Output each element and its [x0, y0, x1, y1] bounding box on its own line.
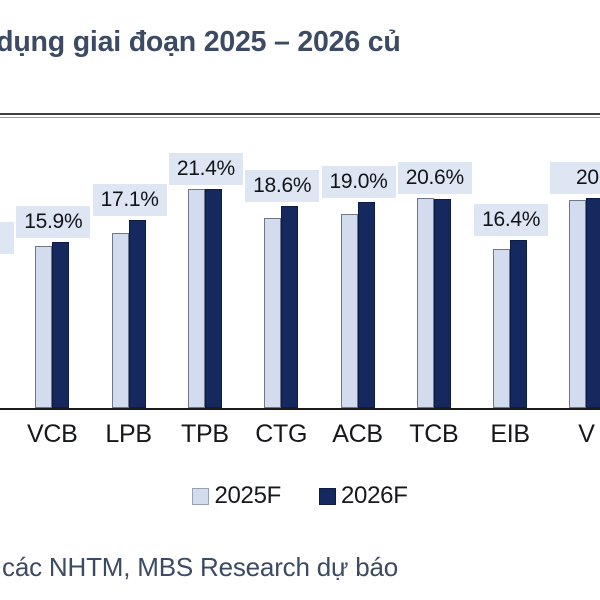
bar-data-label: 21.4%	[169, 153, 243, 185]
bar-2025f[interactable]	[112, 233, 129, 408]
category-label-tpb: TPB	[167, 420, 243, 449]
square-swatch-light-icon	[192, 488, 209, 505]
bar-group	[341, 122, 375, 408]
x-axis-line	[0, 408, 600, 410]
bar-2026f[interactable]	[281, 206, 298, 408]
square-swatch-dark-icon	[319, 488, 336, 505]
bar-2025f[interactable]	[35, 246, 52, 408]
bar-data-label: 18.6%	[245, 170, 319, 202]
category-label-ctg: CTG	[243, 420, 319, 449]
bar-2025f[interactable]	[569, 200, 586, 408]
category-label-v: V	[548, 420, 600, 449]
legend-item-2026f[interactable]: 2026F	[319, 482, 408, 510]
bar-2025f[interactable]	[341, 214, 358, 408]
category-label-vcb: VCB	[14, 420, 90, 449]
bar-2026f[interactable]	[358, 202, 375, 408]
bar-2026f[interactable]	[205, 189, 222, 408]
title-divider	[0, 113, 600, 115]
bar-data-label: 17.1%	[93, 184, 167, 216]
category-label-lpb: LPB	[91, 420, 167, 449]
bar-2026f[interactable]	[434, 199, 451, 408]
bar-2026f[interactable]	[129, 220, 146, 408]
chart-title-bar: ởng tín dụng giai đoạn 2025 – 2026 củ	[0, 0, 600, 108]
category-label-eib: EIB	[472, 420, 548, 449]
bar-group	[35, 122, 69, 408]
bar-data-label: .7%	[0, 222, 14, 254]
bar-group	[264, 122, 298, 408]
bar-2025f[interactable]	[264, 218, 281, 408]
bar-data-label: 15.9%	[16, 206, 90, 238]
category-label-cb: CB	[0, 420, 14, 449]
chart-plot-area: .7%15.9%17.1%21.4%18.6%19.0%20.6%16.4%20	[0, 120, 600, 410]
bar-group	[112, 122, 146, 408]
source-note: , các NHTM, MBS Research dự báo	[0, 552, 398, 583]
legend-label: 2026F	[341, 482, 408, 510]
page-title: ởng tín dụng giai đoạn 2025 – 2026 củ	[0, 26, 401, 59]
bar-data-label: 16.4%	[474, 204, 548, 236]
legend-label: 2025F	[214, 482, 281, 510]
category-label-tcb: TCB	[396, 420, 472, 449]
bar-2025f[interactable]	[188, 189, 205, 408]
chart-legend: 2025F 2026F	[0, 478, 600, 514]
chart-footer: , các NHTM, MBS Research dự báo	[0, 546, 600, 600]
bar-2025f[interactable]	[493, 249, 510, 408]
category-label-acb: ACB	[320, 420, 396, 449]
bar-2026f[interactable]	[586, 198, 600, 408]
bar-2026f[interactable]	[52, 242, 69, 408]
category-axis: CBVCBLPBTPBCTGACBTCBEIBV	[0, 412, 600, 458]
bar-data-label: 20	[550, 162, 600, 194]
legend-item-2025f[interactable]: 2025F	[192, 482, 281, 510]
bar-data-label: 19.0%	[322, 166, 396, 198]
bar-group	[493, 122, 527, 408]
title-divider-secondary	[0, 117, 600, 118]
bar-2026f[interactable]	[510, 240, 527, 408]
bar-2025f[interactable]	[417, 198, 434, 408]
bar-data-label: 20.6%	[398, 162, 472, 194]
